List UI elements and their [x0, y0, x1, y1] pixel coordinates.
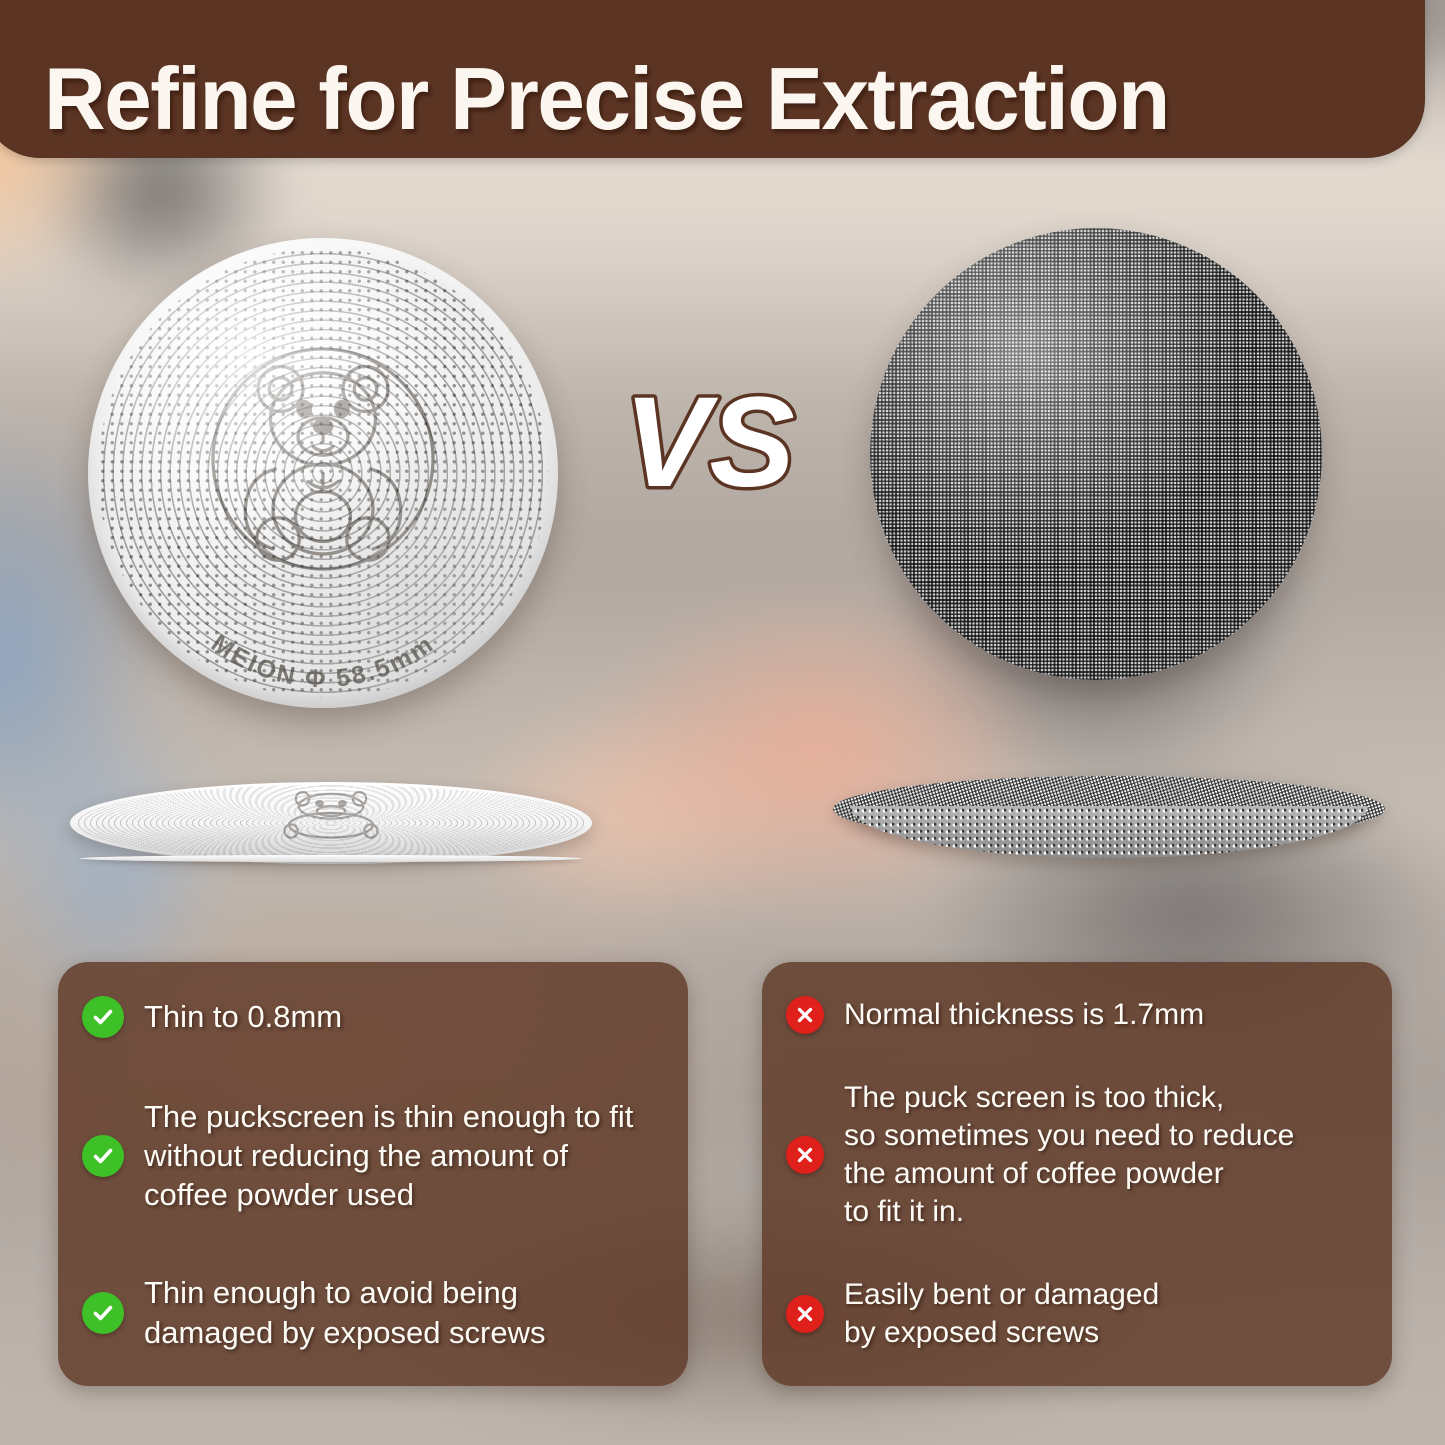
x-circle-icon — [786, 996, 824, 1034]
mesh-puck-screen-side-view — [833, 776, 1385, 868]
pros-item-1: Thin to 0.8mm — [82, 996, 662, 1038]
pros-item-3-text: Thin enough to avoid being damaged by ex… — [144, 1273, 546, 1352]
cons-item-3-text: Easily bent or damaged by exposed screws — [844, 1276, 1159, 1352]
cons-panel: Normal thickness is 1.7mm The puck scree… — [762, 962, 1392, 1386]
header-banner: Refine for Precise Extraction — [0, 0, 1425, 158]
cons-item-3: Easily bent or damaged by exposed screws — [786, 1276, 1366, 1352]
check-circle-icon — [82, 1135, 124, 1177]
perforated-puck-screen-top-view: MEION Φ 58.5mm — [88, 238, 558, 708]
mesh-puck-screen-top-view — [870, 228, 1322, 680]
cons-item-1: Normal thickness is 1.7mm — [786, 996, 1366, 1034]
pros-item-3: Thin enough to avoid being damaged by ex… — [82, 1273, 662, 1352]
cons-item-2-text: The puck screen is too thick, so sometim… — [844, 1079, 1294, 1231]
cons-item-2: The puck screen is too thick, so sometim… — [786, 1079, 1366, 1231]
infographic-canvas: Refine for Precise Extraction — [0, 0, 1445, 1445]
perforation-dot-grid — [98, 248, 548, 698]
thick-disc-edge — [850, 806, 1369, 858]
pros-item-2: The puckscreen is thin enough to fit wit… — [82, 1097, 662, 1215]
pros-item-1-text: Thin to 0.8mm — [144, 997, 342, 1036]
x-circle-icon — [786, 1136, 824, 1174]
cons-item-1-text: Normal thickness is 1.7mm — [844, 996, 1204, 1034]
pros-panel: Thin to 0.8mm The puckscreen is thin eno… — [58, 962, 688, 1386]
check-circle-icon — [82, 1292, 124, 1334]
page-title: Refine for Precise Extraction — [44, 56, 1169, 142]
woven-mesh-texture — [870, 228, 1322, 680]
pros-item-2-text: The puckscreen is thin enough to fit wit… — [144, 1097, 633, 1215]
thin-disc-face — [70, 782, 592, 864]
check-circle-icon — [82, 996, 124, 1038]
perforated-puck-screen-side-view — [70, 782, 592, 864]
x-circle-icon — [786, 1295, 824, 1333]
thin-disc-edge — [80, 855, 581, 862]
